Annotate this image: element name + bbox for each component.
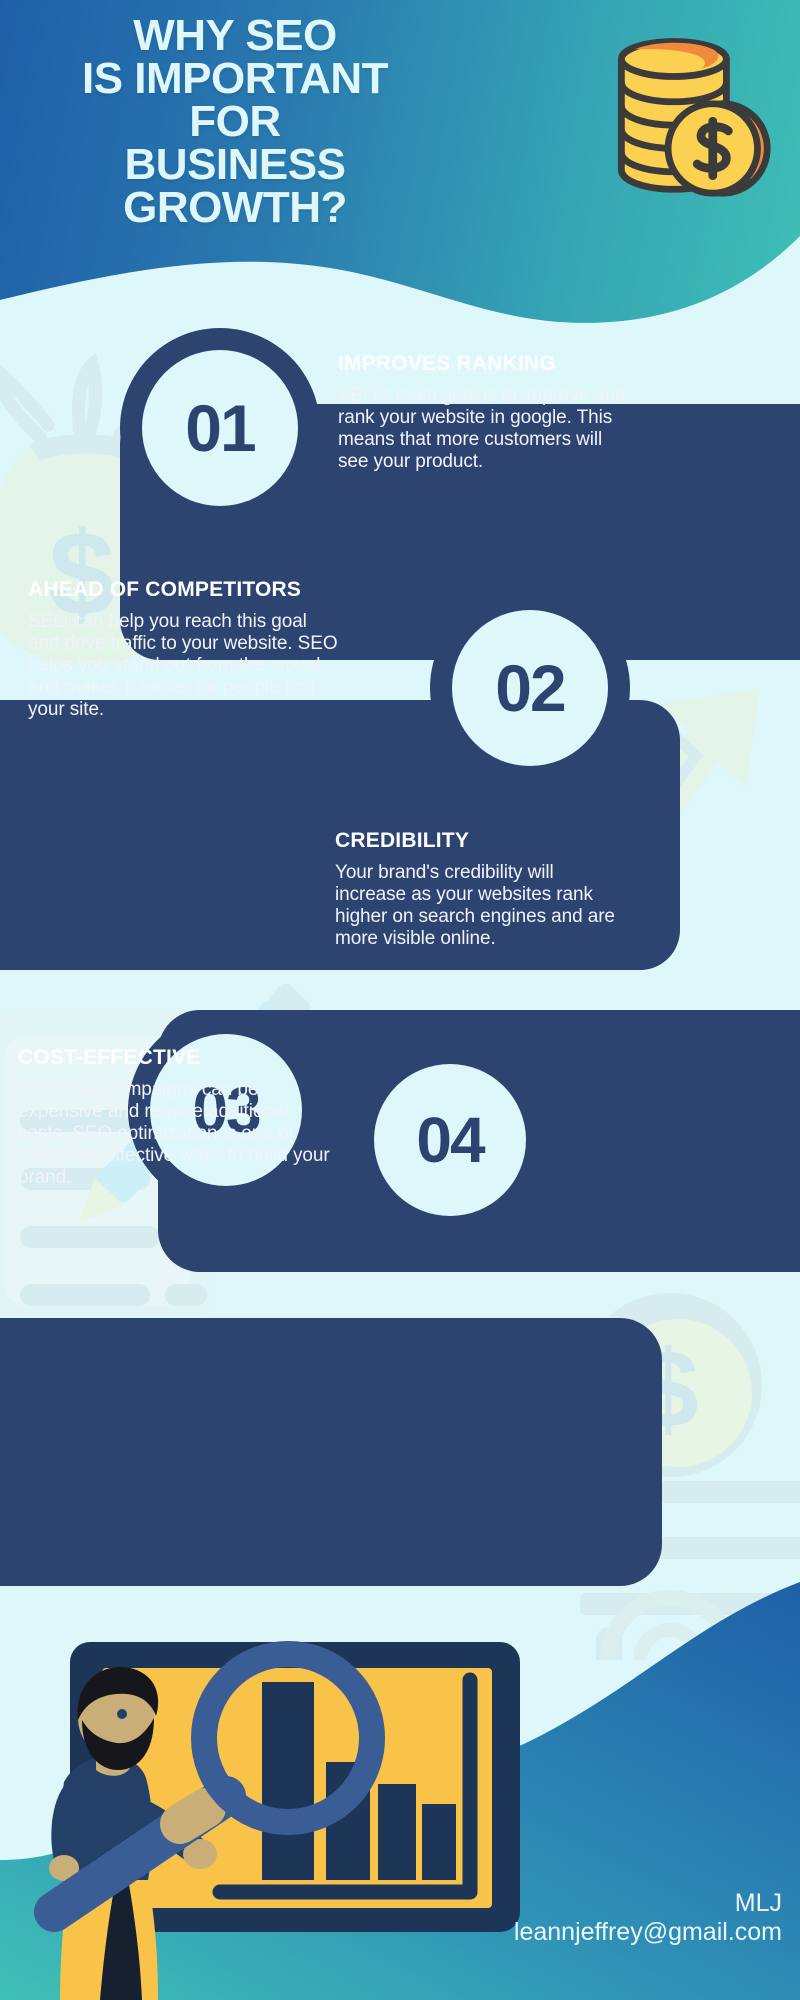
card-4 <box>0 1318 662 1586</box>
footer-name: MLJ <box>514 1890 782 1918</box>
card-2-text: AHEAD OF COMPETITORS SEO can help you re… <box>28 578 340 721</box>
card-4-text: COST-EFFECTIVE Marketing campaigns can b… <box>18 1046 330 1189</box>
card-2-body: SEO can help you reach this goal and dri… <box>28 611 340 721</box>
title-line-2: IS IMPORTANT <box>0 57 470 100</box>
bar-4 <box>422 1804 456 1880</box>
card-3-body: Your brand's credibility will increase a… <box>335 862 625 950</box>
title-line-1: WHY SEO <box>0 14 470 57</box>
card-3-text: CREDIBILITY Your brand's credibility wil… <box>335 829 625 950</box>
card-1-body: SEO's main goal is to improve and rank y… <box>338 385 634 473</box>
number-badge-2: 02 <box>430 588 630 788</box>
card-1-title: IMPROVES RANKING <box>338 352 634 376</box>
man-with-magnifier-illustration <box>30 1600 550 2000</box>
title-underline <box>14 305 469 310</box>
card-1-text: IMPROVES RANKING SEO's main goal is to i… <box>338 352 634 473</box>
bar-3 <box>378 1784 416 1880</box>
number-badge-4: 04 <box>352 1042 548 1238</box>
title-line-3: FOR <box>0 100 470 143</box>
number-label-1: 01 <box>142 350 298 506</box>
bar-1 <box>262 1682 314 1880</box>
page-title: WHY SEO IS IMPORTANT FOR BUSINESS GROWTH… <box>0 14 470 230</box>
card-3-title: CREDIBILITY <box>335 829 625 853</box>
number-label-4: 04 <box>374 1064 526 1216</box>
infographic-poster: WHY SEO IS IMPORTANT FOR BUSINESS GROWTH… <box>0 0 800 2000</box>
title-line-4: BUSINESS <box>0 143 470 186</box>
title-line-5: GROWTH? <box>0 186 470 229</box>
footer-email: leannjeffrey@gmail.com <box>514 1918 782 1947</box>
number-badge-1: 01 <box>120 328 320 528</box>
card-2-title: AHEAD OF COMPETITORS <box>28 578 340 602</box>
number-label-2: 02 <box>452 610 608 766</box>
card-4-body: Marketing campaigns can be expensive and… <box>18 1079 330 1189</box>
card-4-title: COST-EFFECTIVE <box>18 1046 330 1070</box>
coin-stack-icon <box>600 24 775 199</box>
footer-contact: MLJ leannjeffrey@gmail.com <box>514 1890 782 1946</box>
